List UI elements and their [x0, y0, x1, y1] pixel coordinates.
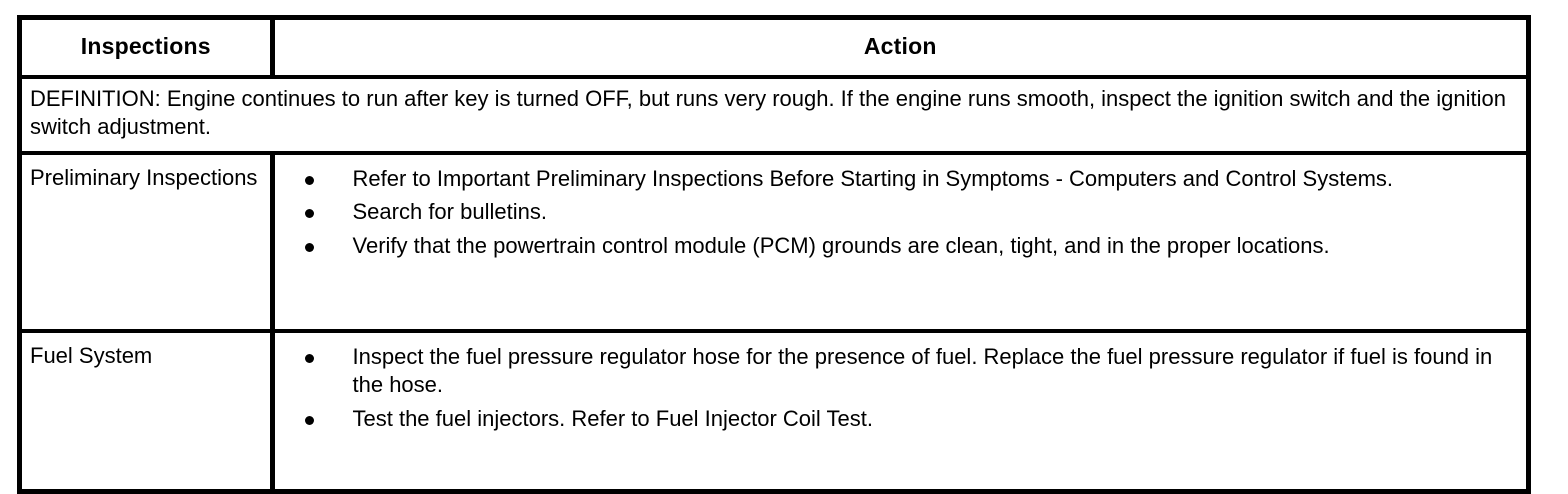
- diagnostic-table: Inspections Action DEFINITION: Engine co…: [17, 15, 1531, 494]
- row-actions-preliminary-inspections: Refer to Important Preliminary Inspectio…: [272, 153, 1526, 331]
- inspections-action-table: Inspections Action DEFINITION: Engine co…: [22, 20, 1526, 489]
- bullet-icon: [305, 354, 314, 363]
- bullet-list: Refer to Important Preliminary Inspectio…: [285, 165, 1517, 259]
- table-header-row: Inspections Action: [22, 20, 1526, 77]
- column-header-action: Action: [272, 20, 1526, 77]
- document-page: Inspections Action DEFINITION: Engine co…: [0, 0, 1568, 468]
- list-item: Verify that the powertrain control modul…: [285, 232, 1517, 260]
- row-actions-fuel-system: Inspect the fuel pressure regulator hose…: [272, 331, 1526, 489]
- bullet-icon: [305, 243, 314, 252]
- list-item-text: Test the fuel injectors. Refer to Fuel I…: [353, 405, 1517, 433]
- list-item: Inspect the fuel pressure regulator hose…: [285, 343, 1517, 399]
- table-row: Fuel System Inspect the fuel pressure re…: [22, 331, 1526, 489]
- definition-row: DEFINITION: Engine continues to run afte…: [22, 77, 1526, 153]
- bullet-icon: [305, 176, 314, 185]
- row-label-fuel-system: Fuel System: [22, 331, 272, 489]
- list-item: Refer to Important Preliminary Inspectio…: [285, 165, 1517, 193]
- bullet-icon: [305, 209, 314, 218]
- list-item-text: Refer to Important Preliminary Inspectio…: [353, 165, 1517, 193]
- table-row: Preliminary Inspections Refer to Importa…: [22, 153, 1526, 331]
- bullet-list: Inspect the fuel pressure regulator hose…: [285, 343, 1517, 432]
- bullet-icon: [305, 416, 314, 425]
- column-header-inspections: Inspections: [22, 20, 272, 77]
- row-label-preliminary-inspections: Preliminary Inspections: [22, 153, 272, 331]
- list-item-text: Verify that the powertrain control modul…: [353, 232, 1517, 260]
- list-item-text: Search for bulletins.: [353, 198, 1517, 226]
- list-item: Search for bulletins.: [285, 198, 1517, 226]
- definition-text: DEFINITION: Engine continues to run afte…: [22, 77, 1526, 153]
- list-item-text: Inspect the fuel pressure regulator hose…: [353, 343, 1517, 399]
- list-item: Test the fuel injectors. Refer to Fuel I…: [285, 405, 1517, 433]
